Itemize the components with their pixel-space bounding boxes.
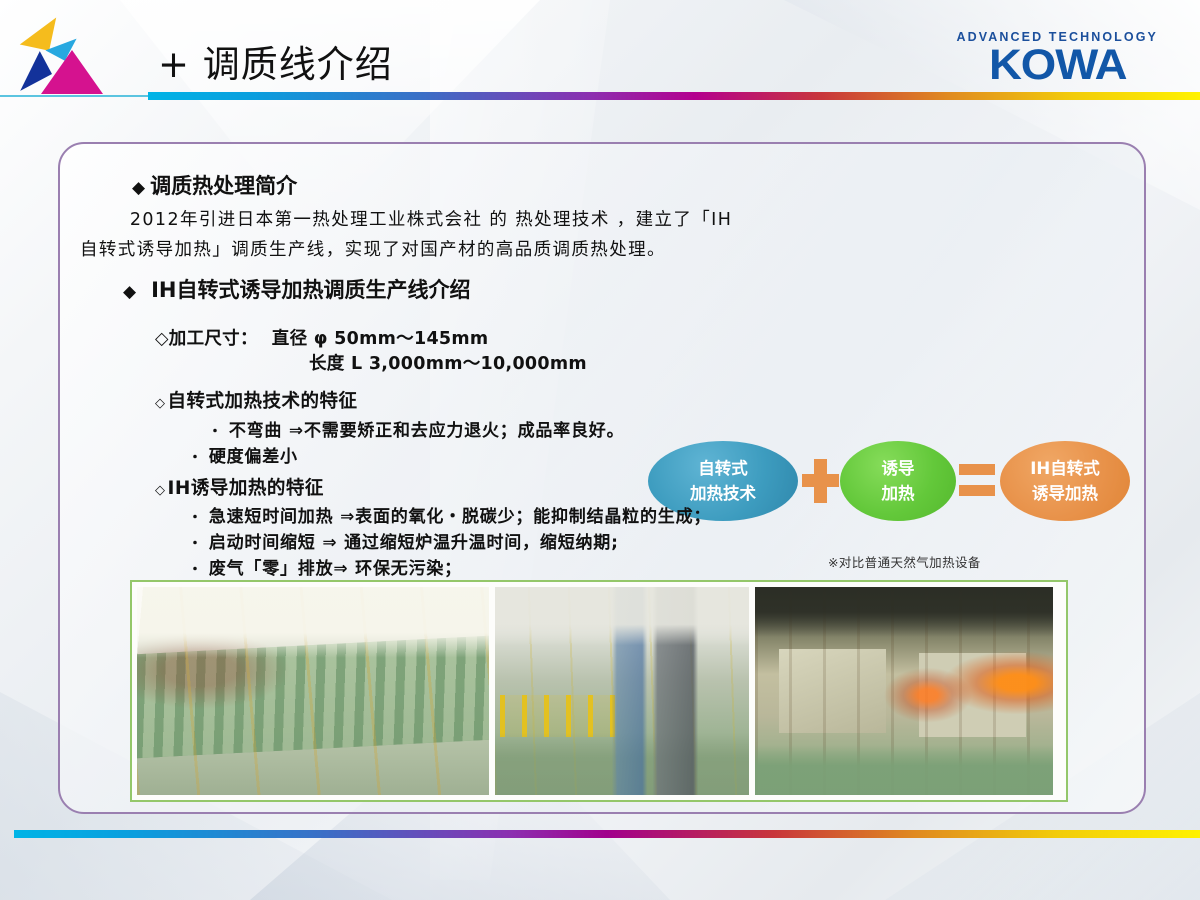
feature-item-ih-3: ・废气「零」排放⇒ 环保无污染； [188, 554, 462, 579]
page-title: + 调质线介绍 [158, 34, 393, 88]
header-rule [0, 95, 150, 97]
plus-operator-icon [801, 459, 839, 503]
oval2-line1: 诱导 [882, 456, 915, 481]
photo-machine-hall-cabinets [495, 587, 749, 795]
diamond-small-icon: ◇ [155, 329, 169, 349]
intro-paragraph-line-1: 2012年引进日本第一热处理工业株式会社 的 热处理技术 ，建立了「IH [104, 206, 732, 234]
section-heading-line: ◆IH自转式诱导加热调质生产线介绍 [123, 274, 470, 304]
intro-paragraph-line-2: 自转式诱导加热」调质生产线，实现了对国产材的高品质调质热处理。 [80, 236, 666, 264]
feature-item-ih-2: ・启动时间缩短 ⇒ 通过缩短炉温升温时间，缩短纳期; [188, 528, 619, 553]
header-gradient-bar [148, 92, 1200, 100]
middot-bullet-icon: ・ [208, 424, 223, 440]
oval2-line2: 加热 [882, 481, 915, 506]
footer-gradient-bar [14, 830, 1200, 838]
feature-item-ih-1: ・急速短时间加热 ⇒表面的氧化・脱碳少；能抑制结晶粒的生成； [188, 502, 711, 527]
content-panel: ◆调质热处理简介 2012年引进日本第一热处理工业株式会社 的 热处理技术 ，建… [58, 142, 1146, 814]
footnote-text: ※对比普通天然气加热设备 [828, 552, 981, 571]
middot-bullet-icon-2: ・ [188, 450, 203, 466]
middot-bullet-icon-5: ・ [188, 562, 203, 578]
diagram-oval-induction: 诱导 加热 [840, 441, 956, 521]
concept-diagram: 自转式 加热技术 诱导 加热 IH自转式 诱导加热 [648, 441, 1128, 523]
diamond-bullet-icon: ◆ [132, 178, 145, 198]
diagram-oval-result: IH自转式 诱导加热 [1000, 441, 1130, 521]
diamond-small-icon-2: ◇ [155, 396, 166, 411]
diamond-small-icon-3: ◇ [155, 483, 166, 498]
slide-header: + 调质线介绍 ADVANCED TECHNOLOGY KOWA [0, 0, 1200, 104]
middot-bullet-icon-3: ・ [188, 510, 203, 526]
photo-production-line-overview [137, 587, 489, 795]
equals-operator-icon [959, 464, 995, 498]
oval3-line1: IH自转式 [1030, 456, 1099, 481]
diamond-bullet-icon-2: ◆ [123, 282, 136, 302]
section-heading-intro: ◆调质热处理简介 [132, 170, 297, 200]
feature-heading-rotary: ◇自转式加热技术的特征 [155, 387, 358, 413]
feature-item-rotary-1: ・不弯曲 ⇒不需要矫正和去应力退火；成品率良好。 [208, 416, 624, 441]
feature-item-rotary-2: ・硬度偏差小 [188, 442, 298, 467]
content-body: ◆调质热处理简介 2012年引进日本第一热处理工业株式会社 的 热处理技术 ，建… [60, 144, 1148, 816]
kowa-logo: ADVANCED TECHNOLOGY KOWA [957, 30, 1158, 86]
spec-label: ◇加工尺寸：直径 φ 50mm～145mm [155, 325, 488, 350]
oval3-line2: 诱导加热 [1032, 481, 1098, 506]
photo-induction-heating-coils [755, 587, 1053, 795]
photo-strip [130, 580, 1068, 802]
middot-bullet-icon-4: ・ [188, 536, 203, 552]
spec-line-2: 长度 L 3,000mm～10,000mm [309, 350, 587, 375]
feature-heading-ih: ◇IH诱导加热的特征 [155, 474, 324, 500]
triangle-magenta-icon [41, 50, 103, 94]
kowa-logo-wordmark: KOWA [950, 45, 1164, 86]
oval1-line1: 自转式 [698, 456, 748, 481]
